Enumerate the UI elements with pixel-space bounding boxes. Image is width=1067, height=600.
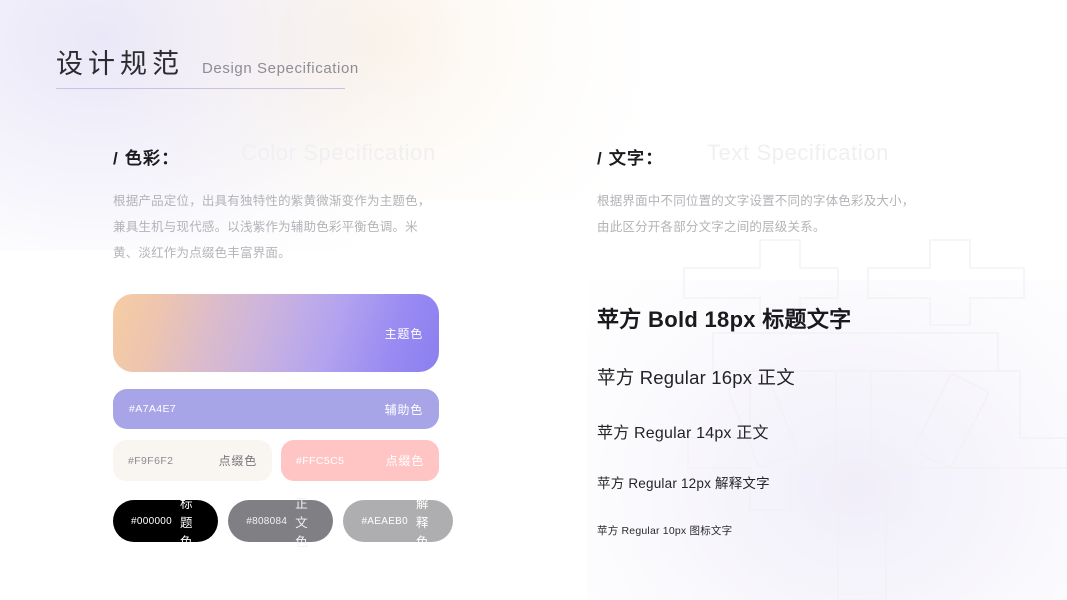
type-specimen-heading-18: 苹方 Bold 18px 标题文字 xyxy=(597,302,1017,334)
swatch-secondary-role: 辅助色 xyxy=(385,401,423,418)
swatch-caption-color-role: 解释色 xyxy=(416,493,435,550)
header-divider xyxy=(56,88,345,89)
color-section-heading: / 色彩： Color Specification xyxy=(113,140,453,174)
swatch-accent-cream[interactable]: #F9F6F2 点缀色 xyxy=(113,440,272,481)
type-specimen-body-14: 苹方 Regular 14px 正文 xyxy=(597,419,1017,443)
type-specimen-group: 苹方 Bold 18px 标题文字 苹方 Regular 16px 正文 苹方 … xyxy=(597,302,1017,538)
text-color-swatch-row: #000000 标题色 #808084 正文色 #AEAEB0 解释色 xyxy=(113,500,453,542)
swatch-caption-color[interactable]: #AEAEB0 解释色 xyxy=(343,500,453,542)
color-section-description: 根据产品定位，出具有独特性的紫黄微渐变作为主题色，兼具生机与现代感。以浅紫作为辅… xyxy=(113,188,435,266)
page-title-cn: 设计规范 xyxy=(56,42,184,81)
accent-swatch-row: #F9F6F2 点缀色 #FFC5C5 点缀色 xyxy=(113,440,453,481)
swatch-accent-cream-hex: #F9F6F2 xyxy=(128,455,173,467)
color-swatch-group: 主题色 #A7A4E7 辅助色 #F9F6F2 点缀色 #FFC5C5 点缀色 … xyxy=(113,294,453,542)
swatch-accent-pink[interactable]: #FFC5C5 点缀色 xyxy=(281,440,439,481)
swatch-primary-role: 主题色 xyxy=(385,325,423,342)
swatch-title-color-hex: #000000 xyxy=(131,516,172,527)
type-specimen-body-16: 苹方 Regular 16px 正文 xyxy=(597,364,1017,390)
color-heading-cn: / 色彩： xyxy=(113,144,179,169)
header-title-row: 设计规范 Design Sepecification xyxy=(56,42,346,88)
swatch-body-color[interactable]: #808084 正文色 xyxy=(228,500,333,542)
swatch-title-color[interactable]: #000000 标题色 xyxy=(113,500,218,542)
swatch-primary-color[interactable]: 主题色 xyxy=(113,294,439,372)
text-specification-section: / 文字： Text Specification 根据界面中不同位置的文字设置不… xyxy=(597,140,1017,538)
color-specification-section: / 色彩： Color Specification 根据产品定位，出具有独特性的… xyxy=(113,140,453,542)
swatch-secondary-color[interactable]: #A7A4E7 辅助色 xyxy=(113,389,439,429)
page-header: 设计规范 Design Sepecification xyxy=(56,42,346,89)
swatch-secondary-hex: #A7A4E7 xyxy=(129,403,176,415)
text-section-description: 根据界面中不同位置的文字设置不同的字体色彩及大小，由此区分开各部分文字之间的层级… xyxy=(597,188,919,240)
swatch-body-color-role: 正文色 xyxy=(295,493,315,550)
swatch-caption-color-hex: #AEAEB0 xyxy=(361,516,408,527)
text-heading-cn: / 文字： xyxy=(597,144,663,169)
swatch-accent-pink-role: 点缀色 xyxy=(386,452,424,469)
text-heading-en: Text Specification xyxy=(707,140,889,166)
text-section-heading: / 文字： Text Specification xyxy=(597,140,1017,174)
swatch-accent-cream-role: 点缀色 xyxy=(219,452,257,469)
type-specimen-icon-10: 苹方 Regular 10px 图标文字 xyxy=(597,523,1017,538)
swatch-title-color-role: 标题色 xyxy=(180,493,200,550)
type-specimen-caption-12: 苹方 Regular 12px 解释文字 xyxy=(597,472,1017,492)
page-title-en: Design Sepecification xyxy=(202,60,359,77)
color-heading-en: Color Specification xyxy=(241,140,436,166)
swatch-body-color-hex: #808084 xyxy=(246,516,287,527)
swatch-accent-pink-hex: #FFC5C5 xyxy=(296,455,344,467)
